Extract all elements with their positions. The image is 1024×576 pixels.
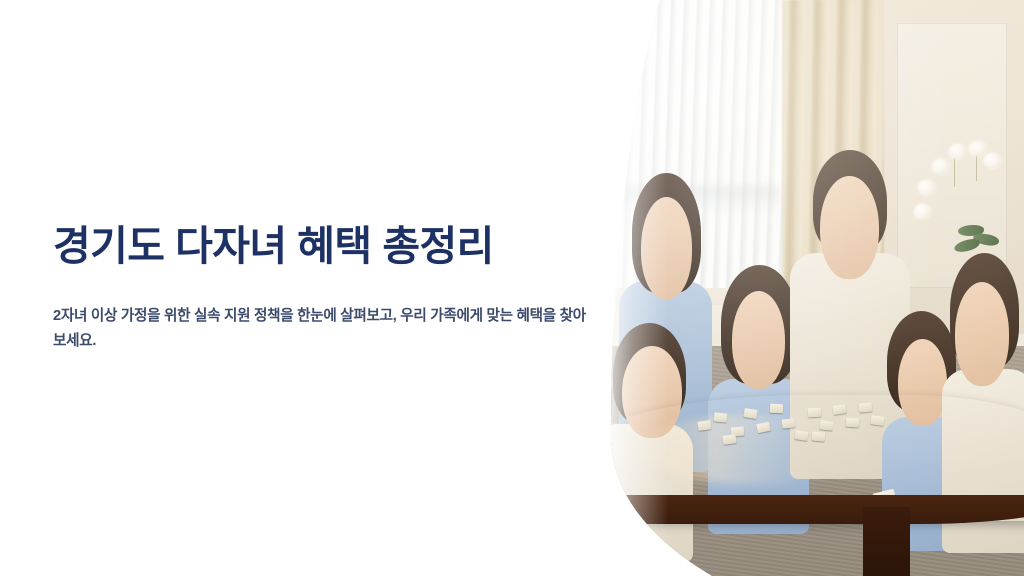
table-leg-right bbox=[863, 507, 910, 576]
cards-on-table bbox=[693, 400, 905, 452]
text-panel: 경기도 다자녀 혜택 총정리 2자녀 이상 가정을 위한 실속 지원 정책을 한… bbox=[0, 0, 600, 576]
slide-root: 경기도 다자녀 혜택 총정리 2자녀 이상 가정을 위한 실속 지원 정책을 한… bbox=[0, 0, 1024, 576]
hero-photo bbox=[600, 0, 1024, 576]
table-edge bbox=[600, 495, 1024, 524]
page-subtitle: 2자녀 이상 가정을 위한 실속 지원 정책을 한눈에 살펴보고, 우리 가족에… bbox=[53, 304, 593, 354]
page-title: 경기도 다자녀 혜택 총정리 bbox=[53, 222, 494, 270]
table-leg-left bbox=[608, 513, 638, 576]
